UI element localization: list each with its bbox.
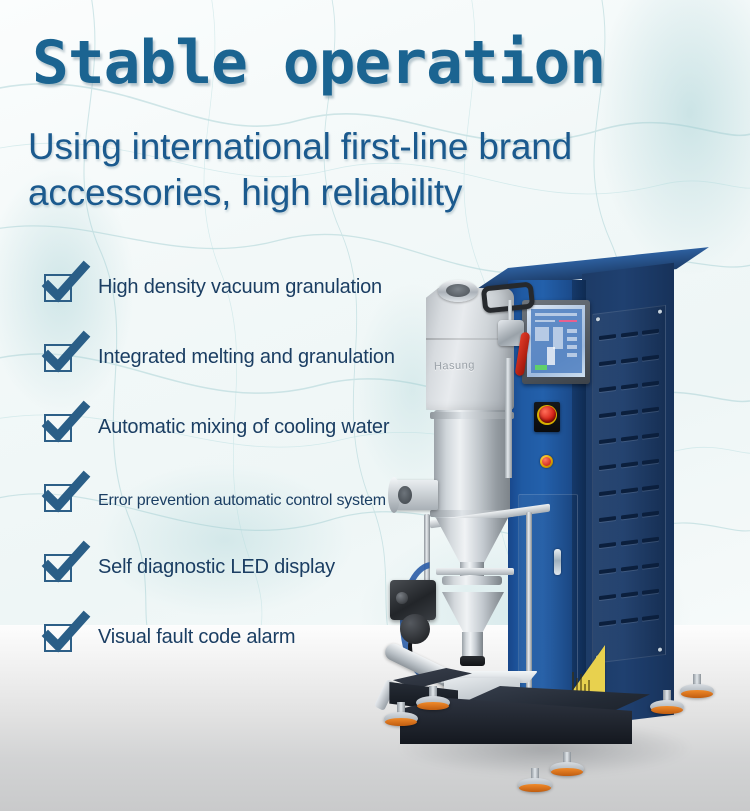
lower-funnel-neck bbox=[462, 632, 483, 658]
motor-knob bbox=[396, 592, 408, 604]
feature-label: Visual fault code alarm bbox=[98, 622, 295, 652]
crucible-cylinder bbox=[434, 410, 510, 518]
feature-label: Error prevention automatic control syste… bbox=[98, 486, 386, 516]
product-feature-poster: Stable operation Using international fir… bbox=[0, 0, 750, 811]
feature-label: Integrated melting and granulation bbox=[98, 342, 395, 372]
page-title: Stable operation bbox=[32, 33, 605, 93]
page-subtitle: Using international first-line brand acc… bbox=[28, 124, 668, 216]
checkmark-icon bbox=[42, 264, 88, 306]
checkmark-icon bbox=[42, 404, 88, 446]
ventilation-panel bbox=[592, 305, 666, 664]
brand-label: Hasung bbox=[434, 359, 475, 372]
emergency-stop-button[interactable] bbox=[539, 406, 556, 423]
leveling-foot bbox=[416, 686, 450, 708]
checkmark-icon bbox=[42, 614, 88, 656]
feature-label: Automatic mixing of cooling water bbox=[98, 412, 389, 442]
upper-funnel bbox=[436, 518, 508, 564]
leveling-foot bbox=[680, 674, 714, 696]
status-indicator-button[interactable] bbox=[540, 455, 553, 468]
side-port-glass bbox=[398, 486, 412, 504]
motor-housing-cap bbox=[400, 614, 430, 644]
chamber-port-opening bbox=[446, 284, 470, 297]
funnel-support-bar bbox=[436, 568, 514, 575]
lower-funnel bbox=[442, 592, 504, 634]
feature-label: Self diagnostic LED display bbox=[98, 552, 335, 582]
leveling-foot bbox=[550, 752, 584, 774]
center-rod bbox=[505, 358, 512, 478]
leveling-foot bbox=[384, 702, 418, 724]
checkmark-icon bbox=[42, 544, 88, 586]
checkmark-icon bbox=[42, 474, 88, 516]
product-image: Hasung bbox=[378, 262, 750, 811]
leveling-foot bbox=[650, 690, 684, 712]
door-latch-icon bbox=[554, 549, 561, 575]
feature-label: High density vacuum granulation bbox=[98, 272, 382, 302]
funnel-coupler bbox=[460, 656, 485, 666]
hmi-touchscreen-panel[interactable] bbox=[522, 300, 590, 384]
leveling-foot bbox=[518, 768, 552, 790]
checkmark-icon bbox=[42, 334, 88, 376]
cylinder-band bbox=[430, 412, 514, 419]
hmi-screen[interactable] bbox=[527, 305, 585, 377]
funnel-flange bbox=[442, 576, 502, 585]
